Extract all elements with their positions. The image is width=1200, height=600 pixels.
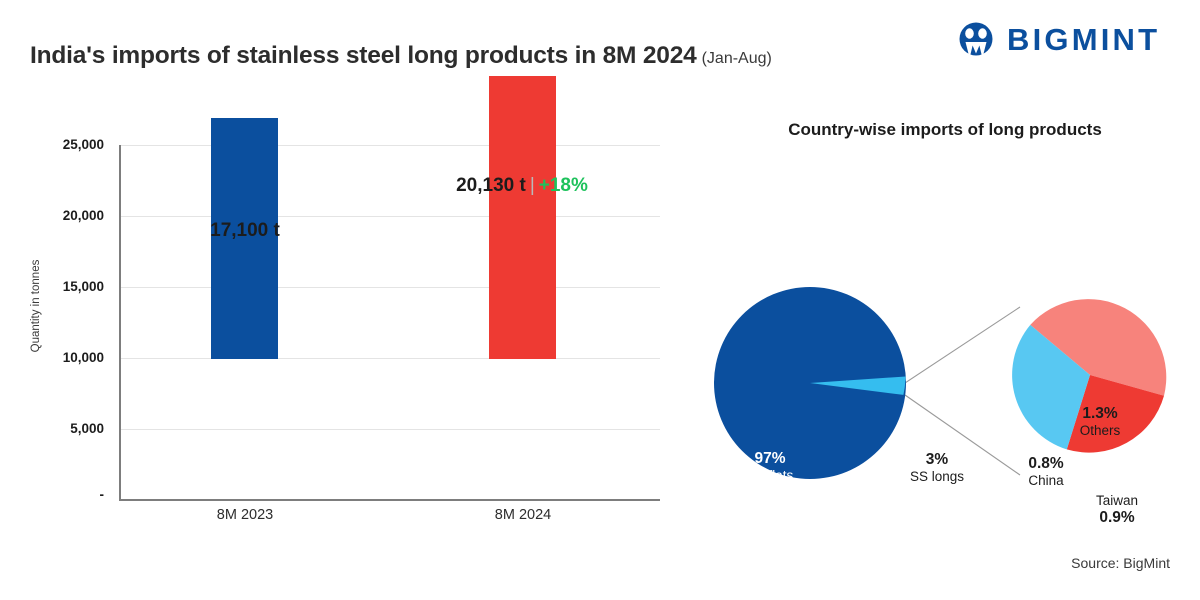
brand-logo: BIGMINT xyxy=(955,18,1170,66)
bar-value-label-2023: 17,100 t xyxy=(165,220,325,242)
page-header: India's imports of stainless steel long … xyxy=(0,0,1200,95)
gridline-10000 xyxy=(120,358,660,359)
pie-value-ss-longs: 3% xyxy=(882,451,992,469)
y-tick-20000: 20,000 xyxy=(24,208,104,223)
pie-name-taiwan: Taiwan xyxy=(1062,493,1172,509)
y-tick-25000: 25,000 xyxy=(24,137,104,152)
y-tick-0: - xyxy=(24,487,104,502)
source-note: Source: BigMint xyxy=(690,555,1170,571)
x-tick-label-2023: 8M 2023 xyxy=(185,507,305,523)
y-tick-5000: 5,000 xyxy=(24,421,104,436)
x-tick-label-2024: 8M 2024 xyxy=(463,507,583,523)
bar-value-label-2024: 20,130 t|+18% xyxy=(412,175,632,197)
gridline-5000 xyxy=(120,429,660,430)
pie-name-ss-longs: SS longs xyxy=(882,469,992,485)
bar-chart: Quantity in tonnes 25,000 20,000 15,000 … xyxy=(0,95,700,555)
bar-change-2024: +18% xyxy=(539,175,588,196)
pie-label-others: 1.3% Others xyxy=(1045,405,1155,439)
pie-name-others: Others xyxy=(1045,423,1155,439)
y-axis-title: Quantity in tonnes xyxy=(30,246,42,366)
x-axis-line xyxy=(119,499,660,501)
gridline-25000 xyxy=(120,145,660,146)
pie-name-ss-flats: SS flats xyxy=(700,468,840,484)
bar-value-2024: 20,130 t xyxy=(456,175,526,196)
page-title: India's imports of stainless steel long … xyxy=(30,42,772,70)
page-title-text: India's imports of stainless steel long … xyxy=(30,42,697,69)
brand-logo-text: BIGMINT xyxy=(1007,22,1160,58)
pie-value-ss-flats: 97% xyxy=(700,450,840,468)
bigmint-logo-icon xyxy=(955,20,997,62)
pie-value-taiwan: 0.9% xyxy=(1062,509,1172,527)
pie-value-china: 0.8% xyxy=(1000,455,1092,473)
y-tick-15000: 15,000 xyxy=(24,279,104,294)
pie-label-ss-flats: 97% SS flats xyxy=(700,450,840,484)
pie-name-china: China xyxy=(1000,473,1092,489)
pie-chart-section: Country-wise imports of long products 97… xyxy=(690,95,1200,600)
pie-label-taiwan: Taiwan 0.9% xyxy=(1062,493,1172,527)
pie-label-ss-longs: 3% SS longs xyxy=(882,451,992,485)
pie-label-china: 0.8% China xyxy=(1000,455,1092,489)
gridline-15000 xyxy=(120,287,660,288)
value-separator: | xyxy=(530,175,535,196)
y-tick-10000: 10,000 xyxy=(24,350,104,365)
pie-value-others: 1.3% xyxy=(1045,405,1155,423)
page-title-suffix: (Jan-Aug) xyxy=(702,50,772,67)
gridline-20000 xyxy=(120,216,660,217)
bar-8m-2024[interactable] xyxy=(489,76,556,359)
y-axis-line xyxy=(119,145,121,500)
leader-lines xyxy=(905,307,1020,475)
